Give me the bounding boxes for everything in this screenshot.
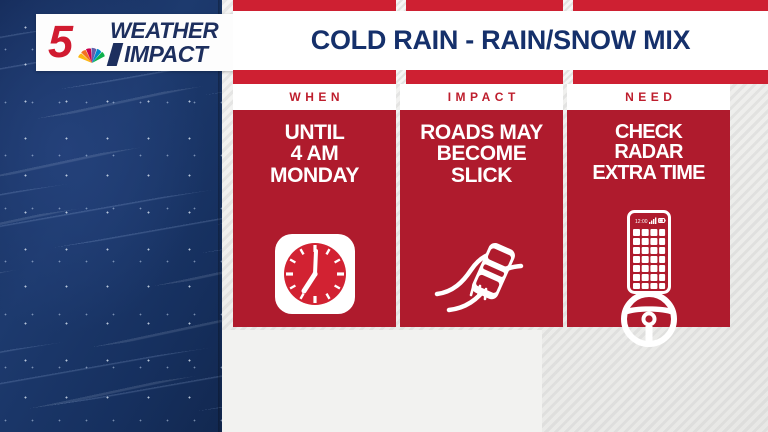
title-band: COLD RAIN - RAIN/SNOW MIX bbox=[233, 11, 768, 70]
channel-number: 5 bbox=[48, 19, 71, 64]
middle-red-bar bbox=[233, 70, 768, 84]
phone-app-grid bbox=[633, 229, 665, 289]
page-title: COLD RAIN - RAIN/SNOW MIX bbox=[311, 25, 690, 56]
top-bar-gap-1 bbox=[396, 0, 406, 11]
panel-impact-body: ROADS MAY BECOME SLICK bbox=[400, 110, 563, 327]
logo-mark: 5 bbox=[46, 18, 108, 68]
logo-wordmark: WEATHER IMPACT bbox=[110, 20, 216, 66]
panel-impact-header-label: IMPACT bbox=[443, 90, 520, 104]
middle-bar-gap-2 bbox=[563, 70, 573, 84]
weather-graphic: 5 WEATHER IMPACT COLD RAIN bbox=[0, 0, 768, 432]
lower-background-panel bbox=[222, 330, 542, 432]
logo-impact-row: IMPACT bbox=[110, 43, 216, 66]
panel-need-header-label: NEED bbox=[621, 90, 677, 104]
panel-impact: IMPACT ROADS MAY BECOME SLICK bbox=[400, 84, 563, 327]
middle-bar-gap-1 bbox=[396, 70, 406, 84]
skidding-car-icon bbox=[427, 232, 537, 318]
panel-need-icon-area: 12:00 bbox=[567, 210, 730, 347]
panel-need-header: NEED bbox=[567, 84, 730, 110]
panel-impact-icon-area bbox=[400, 232, 563, 318]
panel-when-body: UNTIL 4 AM MONDAY bbox=[233, 110, 396, 327]
nbc-peacock-icon bbox=[76, 41, 108, 67]
panel-when: WHEN UNTIL 4 AM MONDAY bbox=[233, 84, 396, 327]
top-bar-gap-2 bbox=[563, 0, 573, 11]
panel-when-headline: UNTIL 4 AM MONDAY bbox=[267, 122, 362, 186]
station-logo: 5 WEATHER IMPACT bbox=[36, 14, 234, 71]
panel-when-header-label: WHEN bbox=[285, 90, 344, 104]
top-red-bar bbox=[233, 0, 768, 11]
panel-need-headline: CHECK RADAR EXTRA TIME bbox=[589, 122, 707, 183]
panel-impact-header: IMPACT bbox=[400, 84, 563, 110]
panel-impact-headline: ROADS MAY BECOME SLICK bbox=[417, 122, 546, 186]
phone-time-label: 12:00 bbox=[635, 219, 648, 225]
logo-impact-text: IMPACT bbox=[124, 43, 207, 66]
logo-weather-text: WEATHER bbox=[110, 20, 218, 42]
panel-need: NEED CHECK RADAR EXTRA TIME 12:00 bbox=[567, 84, 730, 327]
clock-icon bbox=[275, 234, 355, 314]
smartphone-icon: 12:00 bbox=[627, 210, 671, 294]
panel-need-body: CHECK RADAR EXTRA TIME 12:00 bbox=[567, 110, 730, 327]
panel-when-header: WHEN bbox=[233, 84, 396, 110]
panel-when-icon-area bbox=[233, 234, 396, 314]
logo-slash-icon bbox=[107, 43, 124, 66]
steering-wheel-icon bbox=[613, 291, 685, 347]
